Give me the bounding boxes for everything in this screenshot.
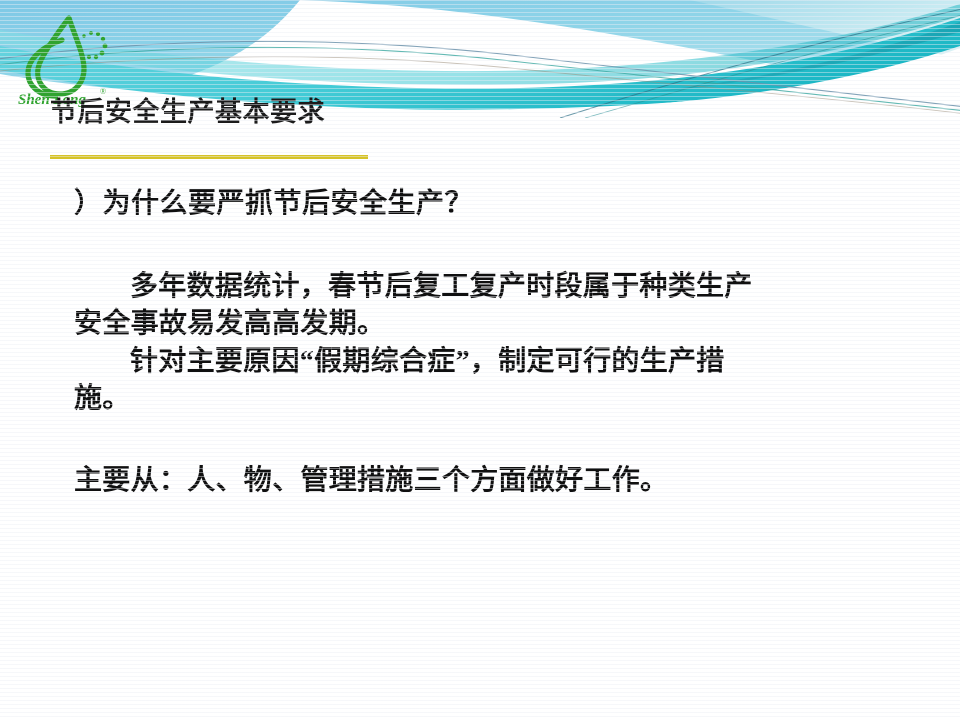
presentation-slide: Shen Long ® 节后安全生产基本要求 ）为什么要严抓节后安全生产？ 多年…	[0, 0, 960, 720]
body-paragraph: 针对主要原因“假期综合症”，制定可行的生产措施。	[74, 343, 764, 418]
title-underline-rule	[50, 155, 368, 159]
body-paragraph: 多年数据统计，春节后复工复产时段属于种类生产安全事故易发高高发期。	[74, 268, 764, 343]
page-title: 节后安全生产基本要求	[50, 99, 325, 126]
body-paragraph: 主要从：人、物、管理措施三个方面做好工作。	[74, 462, 764, 500]
section-question: ）为什么要严抓节后安全生产？	[74, 180, 874, 220]
slide-body: ）为什么要严抓节后安全生产？ 多年数据统计，春节后复工复产时段属于种类生产安全事…	[74, 180, 874, 499]
